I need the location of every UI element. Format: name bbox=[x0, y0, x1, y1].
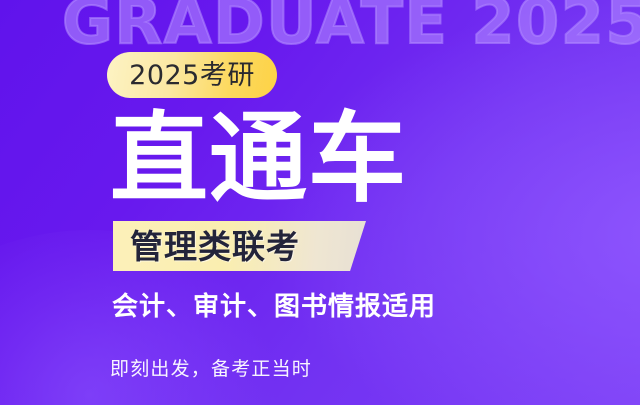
year-badge-label: 2025考研 bbox=[129, 62, 255, 89]
tagline-text: 即刻出发，备考正当时 bbox=[110, 360, 312, 379]
category-ribbon-label: 管理类联考 bbox=[130, 230, 300, 263]
subtitle-text: 会计、审计、图书情报适用 bbox=[112, 294, 436, 320]
page-title: 直通车 bbox=[110, 110, 407, 208]
category-ribbon: 管理类联考 bbox=[113, 221, 366, 271]
year-badge: 2025考研 bbox=[107, 52, 277, 98]
watermark-text: GRADUATE 2025 bbox=[62, 0, 640, 53]
promo-banner: GRADUATE 2025 2025考研 直通车 管理类联考 会计、审计、图书情… bbox=[0, 0, 640, 405]
